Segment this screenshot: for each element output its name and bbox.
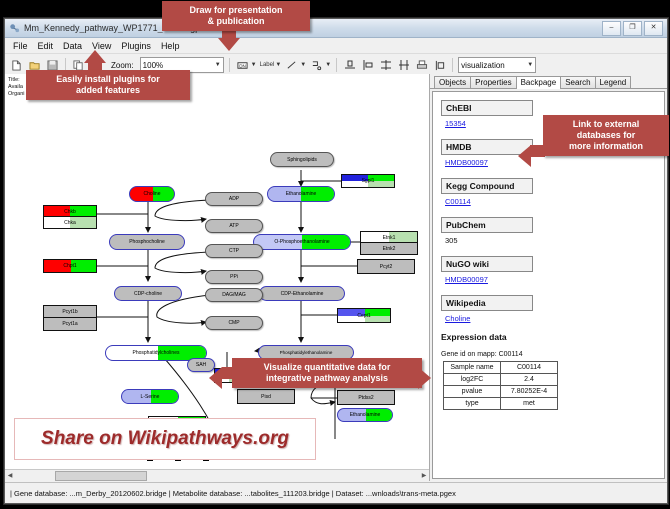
- toolbar-separator-4: [452, 58, 453, 72]
- zoom-value: 100%: [143, 61, 163, 70]
- node-cdp-ethanolamine[interactable]: CDP-Ethanolamine: [259, 286, 345, 301]
- node-label: CDP-choline: [134, 291, 162, 297]
- gene-label: Ptdss2: [358, 395, 373, 401]
- datanode-tool[interactable]: DN ▼: [235, 58, 257, 73]
- node-ctp[interactable]: CTP: [205, 244, 263, 258]
- zoom-label: Zoom:: [111, 61, 134, 70]
- table-row: pvalue 7.80252E-4: [444, 386, 558, 398]
- table-row: log2FC 2.4: [444, 374, 558, 386]
- align-center-icon[interactable]: [342, 58, 357, 73]
- gene-cept1[interactable]: Cept1: [337, 308, 391, 323]
- maximize-button[interactable]: ❐: [623, 21, 642, 36]
- node-ppi[interactable]: PPi: [205, 270, 263, 284]
- callout-links-line-2: databases for: [550, 130, 662, 141]
- menu-file[interactable]: File: [8, 40, 33, 52]
- callout-links-line-3: more information: [550, 141, 662, 152]
- datanode-icon[interactable]: DN: [235, 58, 250, 73]
- db-header-wikipedia: Wikipedia: [441, 295, 533, 311]
- title-bar: Mm_Kennedy_pathway_WP1771_45176.gpml – ❐…: [5, 19, 667, 38]
- tab-objects[interactable]: Objects: [434, 76, 471, 88]
- node-label: Sphingolipids: [287, 157, 317, 163]
- callout-visualize-arrow-icon: [209, 367, 222, 389]
- node-cmp[interactable]: CMP: [205, 316, 263, 330]
- screenshot-root: Mm_Kennedy_pathway_WP1771_45176.gpml – ❐…: [0, 0, 670, 509]
- gene-sgpl1[interactable]: Sgpl1: [341, 174, 395, 188]
- chevron-down-icon-6: ▼: [523, 62, 533, 68]
- node-sphingolipids[interactable]: Sphingolipids: [270, 152, 334, 167]
- node-label: SAH: [196, 362, 206, 368]
- minimize-button[interactable]: –: [602, 21, 621, 36]
- toolbar-separator-3: [336, 58, 337, 72]
- gene-ptdss2[interactable]: Ptdss2: [337, 390, 395, 405]
- node-label: CTP: [229, 248, 239, 254]
- gene-label: Pcyt2: [380, 264, 393, 270]
- gene-etnk2[interactable]: Etnk2: [360, 242, 418, 255]
- scroll-thumb[interactable]: [55, 471, 147, 481]
- window-controls: – ❐ ✕: [602, 21, 663, 36]
- node-label: O-Phosphoethanolamine: [274, 239, 329, 245]
- toolbar-separator-2: [229, 58, 230, 72]
- menu-data[interactable]: Data: [58, 40, 87, 52]
- node-ethanolamine-top[interactable]: Ethanolamine: [267, 186, 335, 202]
- node-label: Ethanolamine: [286, 191, 317, 197]
- node-phosphocholine[interactable]: Phosphocholine: [109, 234, 185, 250]
- callout-draw: Draw for presentation & publication: [162, 1, 310, 31]
- node-dagmag[interactable]: DAG/MAG: [205, 288, 263, 302]
- order-icon[interactable]: [432, 58, 447, 73]
- new-file-icon[interactable]: [9, 58, 24, 73]
- scroll-right-icon[interactable]: ▶: [419, 472, 429, 479]
- db-link-nugo[interactable]: HMDB00097: [445, 275, 656, 284]
- node-label: Phosphatidylcholines: [133, 350, 180, 356]
- exp-key-type: type: [444, 398, 501, 410]
- gene-label: Sgpl1: [362, 178, 375, 184]
- anchor-icon[interactable]: [309, 58, 324, 73]
- align-left-icon[interactable]: [360, 58, 375, 73]
- db-link-wikipedia[interactable]: Choline: [445, 314, 656, 323]
- callout-share: Share on Wikipathways.org: [14, 418, 316, 460]
- chevron-down-icon-5[interactable]: ▼: [325, 62, 331, 68]
- line-tool[interactable]: ▼: [284, 58, 306, 73]
- label-tool[interactable]: Label ▼: [260, 62, 282, 68]
- chevron-down-icon-2[interactable]: ▼: [251, 62, 257, 68]
- visualization-value: visualization: [461, 61, 505, 70]
- exp-val-log2fc: 2.4: [501, 374, 558, 386]
- gene-label: Pisd: [261, 394, 271, 400]
- db-link-hmdb[interactable]: HMDB00097: [445, 158, 656, 167]
- expression-table: Sample name C00114 log2FC 2.4 pvalue 7.8…: [443, 361, 558, 410]
- callout-visualize-line-1: Visualize quantitative data for: [239, 362, 415, 373]
- gene-pcyt2[interactable]: Pcyt2: [357, 259, 415, 274]
- exp-key-pvalue: pvalue: [444, 386, 501, 398]
- distribute-vertical-icon[interactable]: [378, 58, 393, 73]
- callout-plugins-arrow-icon: [84, 50, 106, 63]
- menu-edit[interactable]: Edit: [33, 40, 59, 52]
- node-label: CMP: [228, 320, 239, 326]
- callout-plugins-line-1: Easily install plugins for: [33, 74, 183, 85]
- tab-search[interactable]: Search: [560, 76, 595, 88]
- node-label: Phosphocholine: [129, 239, 165, 245]
- callout-share-text: Share on Wikipathways.org: [41, 428, 289, 450]
- callout-draw-arrow-icon: [218, 38, 240, 51]
- visualization-combobox[interactable]: visualization ▼: [458, 57, 536, 73]
- node-ethanolamine-bottom[interactable]: Ethanolamine: [337, 408, 393, 422]
- exp-val-sample-name: C00114: [501, 362, 558, 374]
- gene-label: Pcyt1b: [62, 309, 77, 315]
- exp-val-pvalue: 7.80252E-4: [501, 386, 558, 398]
- table-row: type met: [444, 398, 558, 410]
- gene-label: Pcyt1a: [62, 321, 77, 327]
- db-value-pubchem: 305: [445, 236, 656, 245]
- db-header-pubchem: PubChem: [441, 217, 533, 233]
- side-tabs: Objects Properties Backpage Search Legen…: [430, 74, 667, 89]
- node-label: ATP: [229, 223, 238, 229]
- gene-chpt1[interactable]: Chpt1: [43, 259, 97, 273]
- gene-label: Etnk1: [383, 235, 396, 241]
- label-tool-text: Label: [260, 62, 275, 68]
- db-link-kegg[interactable]: C00114: [445, 197, 656, 206]
- chevron-down-icon-4[interactable]: ▼: [300, 62, 306, 68]
- gene-label: Chka: [64, 220, 76, 226]
- status-text: | Gene database: ...m_Derby_20120602.bri…: [5, 489, 456, 498]
- callout-links: Link to external databases for more info…: [543, 115, 669, 156]
- gene-chka[interactable]: Chka: [43, 216, 97, 229]
- tab-properties[interactable]: Properties: [470, 76, 516, 88]
- app-icon: [9, 23, 20, 34]
- node-label: PPi: [230, 274, 238, 280]
- node-o-phosphoethanolamine[interactable]: O-Phosphoethanolamine: [253, 234, 351, 250]
- db-header-kegg: Kegg Compound: [441, 178, 533, 194]
- node-label: ADP: [229, 196, 239, 202]
- scroll-left-icon[interactable]: ◀: [5, 472, 15, 479]
- gene-id-on-mapp: Gene id on mapp: C00114: [441, 351, 656, 358]
- node-cdp-choline[interactable]: CDP-choline: [114, 286, 182, 301]
- close-button[interactable]: ✕: [644, 21, 663, 36]
- node-label: Choline: [144, 191, 161, 197]
- callout-visualize-arrow-icon-right: [418, 367, 431, 389]
- callout-visualize-line-2: integrative pathway analysis: [239, 373, 415, 384]
- distribute-horizontal-icon[interactable]: [396, 58, 411, 73]
- db-header-chebi: ChEBI: [441, 100, 533, 116]
- node-choline-top[interactable]: Choline: [129, 186, 175, 202]
- callout-draw-line-1: Draw for presentation: [169, 5, 303, 16]
- expression-data-title: Expression data: [441, 332, 656, 342]
- gene-label: Chkb: [64, 209, 76, 215]
- menu-help[interactable]: Help: [156, 40, 185, 52]
- line-icon[interactable]: [284, 58, 299, 73]
- status-bar: | Gene database: ...m_Derby_20120602.bri…: [5, 482, 667, 503]
- callout-draw-line-2: & publication: [169, 16, 303, 27]
- node-label: Phosphatidylethanolamine: [280, 350, 333, 355]
- tab-backpage[interactable]: Backpage: [516, 76, 562, 89]
- callout-visualize: Visualize quantitative data for integrat…: [232, 358, 422, 388]
- callout-plugins-line-2: added features: [33, 85, 183, 96]
- node-label: CDP-Ethanolamine: [281, 291, 324, 297]
- node-label: Ethanolamine: [350, 412, 381, 418]
- callout-links-arrow-icon: [518, 145, 531, 167]
- menu-plugins[interactable]: Plugins: [116, 40, 156, 52]
- print-icon[interactable]: [414, 58, 429, 73]
- chevron-down-icon: ▼: [211, 62, 221, 68]
- node-label: DAG/MAG: [222, 292, 246, 298]
- exp-key-log2fc: log2FC: [444, 374, 501, 386]
- node-l-serine-left[interactable]: L-Serine: [121, 389, 179, 404]
- exp-key-sample-name: Sample name: [444, 362, 501, 374]
- callout-links-line-1: Link to external: [550, 119, 662, 130]
- gene-label: Chpt1: [63, 263, 76, 269]
- tab-legend[interactable]: Legend: [595, 76, 632, 88]
- gene-pisd[interactable]: Pisd: [237, 389, 295, 404]
- svg-text:DN: DN: [239, 63, 246, 68]
- db-header-nugo: NuGO wiki: [441, 256, 533, 272]
- gene-label: Cept1: [357, 313, 370, 319]
- callout-plugins: Easily install plugins for added feature…: [26, 70, 190, 100]
- gene-pcyt1a[interactable]: Pcyt1a: [43, 317, 97, 331]
- node-adp[interactable]: ADP: [205, 192, 263, 206]
- table-row: Sample name C00114: [444, 362, 558, 374]
- node-atp[interactable]: ATP: [205, 219, 263, 233]
- node-label: L-Serine: [141, 394, 160, 400]
- exp-val-type: met: [501, 398, 558, 410]
- canvas-hscrollbar[interactable]: ◀ ▶: [5, 469, 429, 481]
- chevron-down-icon-3[interactable]: ▼: [275, 62, 281, 68]
- anchor-tool[interactable]: ▼: [309, 58, 331, 73]
- gene-label: Etnk2: [383, 246, 396, 252]
